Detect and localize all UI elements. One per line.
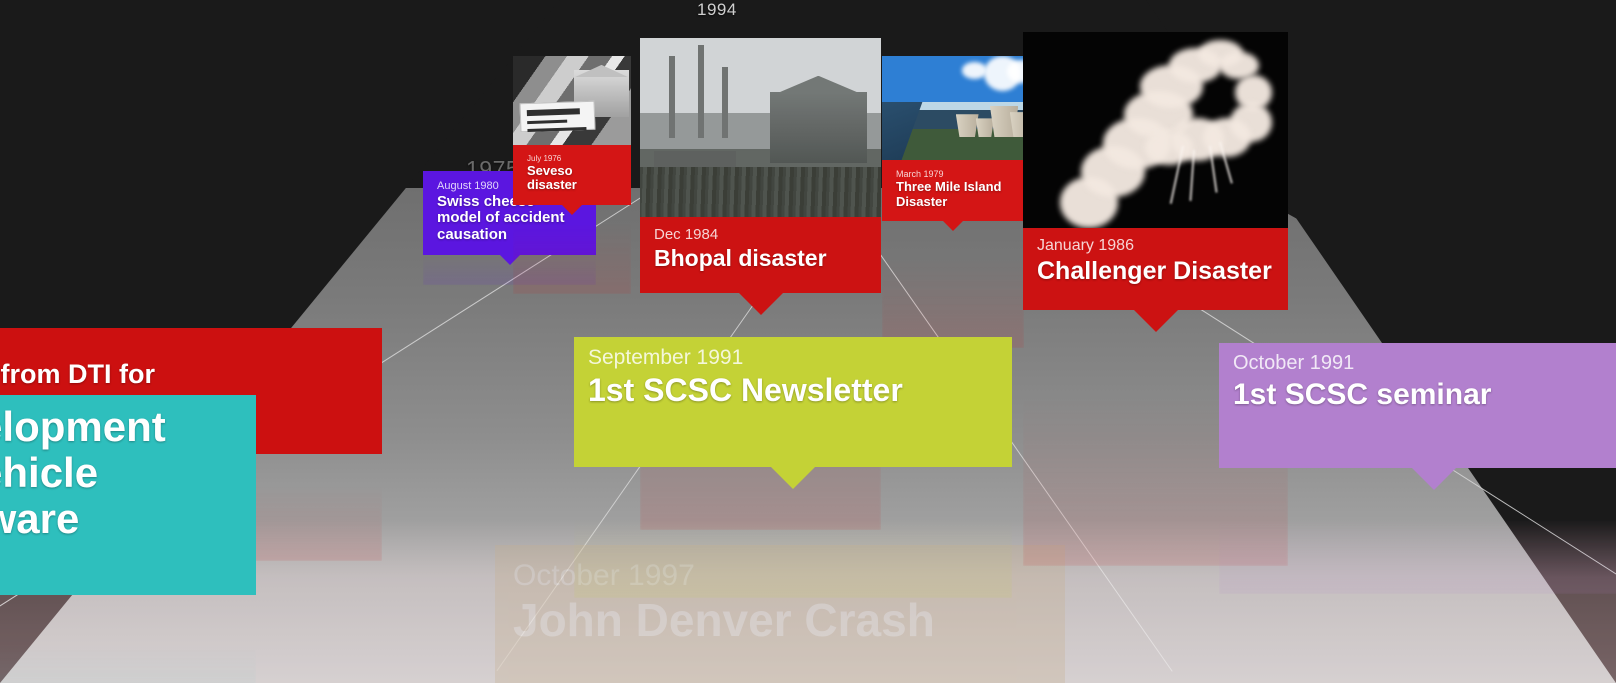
event-card-body: September 19911st SCSC Newsletter [574,337,1012,467]
event-card-body: January 1986Challenger Disaster [1023,228,1288,310]
event-card-pointer [1412,468,1456,490]
event-card-reflection [882,223,1024,348]
event-card-body: March 1979Three Mile Island Disaster [882,160,1024,221]
event-card-first-scsc-seminar[interactable]: October 19911st SCSC seminar [1219,343,1616,468]
event-card-title: 1st SCSC seminar [1233,378,1616,411]
event-card-title: Seveso disaster [527,164,617,193]
event-card-date: September 1991 [588,346,998,370]
seveso-disaster-photo [513,56,631,145]
year-tick-1994: 1994 [697,0,737,20]
event-card-john-denver-crash[interactable]: October 1997 John Denver Crash [495,545,1065,683]
event-card-date: January 1986 [1037,237,1274,255]
bhopal-plant-photo [640,38,881,217]
timeline-canvas[interactable]: 19941975 October 1997 John Denver Crash … [0,0,1616,683]
event-card-three-mile-island[interactable]: March 1979Three Mile Island Disaster [882,56,1024,221]
event-card-reflection [0,595,256,683]
event-card-pointer [500,255,520,265]
event-card-pointer [739,293,783,315]
challenger-explosion-photo [1023,32,1288,228]
event-card-pointer [943,221,963,231]
event-card-date: July 1976 [527,154,617,163]
event-card-body: July 1976Seveso disaster [513,145,631,205]
event-card-challenger-disaster[interactable]: January 1986Challenger Disaster [1023,32,1288,310]
event-card-title: Challenger Disaster [1037,258,1274,286]
event-card-body: October 19911st SCSC seminar [1219,343,1616,468]
event-card-date: May 1991 [0,337,368,357]
event-card-first-scsc-newsletter[interactable]: September 19911st SCSC Newsletter [574,337,1012,467]
event-card-title: Development of Vehicle Software [0,404,242,543]
event-card-vehicle-software[interactable]: Development of Vehicle Software [0,395,256,595]
event-card-pointer [1134,310,1178,332]
event-card-pointer [562,205,582,215]
event-card-date: October 1991 [1233,352,1616,375]
event-card-bhopal-disaster[interactable]: Dec 1984Bhopal disaster [640,38,881,293]
event-card-title: Contract from DTI for [0,360,368,390]
event-card-pointer [771,467,815,489]
event-card-date: Dec 1984 [654,226,867,243]
event-card-title: 1st SCSC Newsletter [588,373,998,408]
three-mile-island-photo [882,56,1024,160]
event-card-date: March 1979 [896,169,1010,179]
event-card-title: Bhopal disaster [654,246,867,271]
event-card-reflection [1219,488,1616,594]
event-card-body: Dec 1984Bhopal disaster [640,217,881,293]
event-card-body: Development of Vehicle Software [0,395,256,595]
event-card-seveso-disaster[interactable]: July 1976Seveso disaster [513,56,631,205]
event-card-title: John Denver Crash [513,593,1047,647]
event-card-title: Three Mile Island Disaster [896,180,1010,209]
event-card-date: October 1997 [513,559,1047,593]
